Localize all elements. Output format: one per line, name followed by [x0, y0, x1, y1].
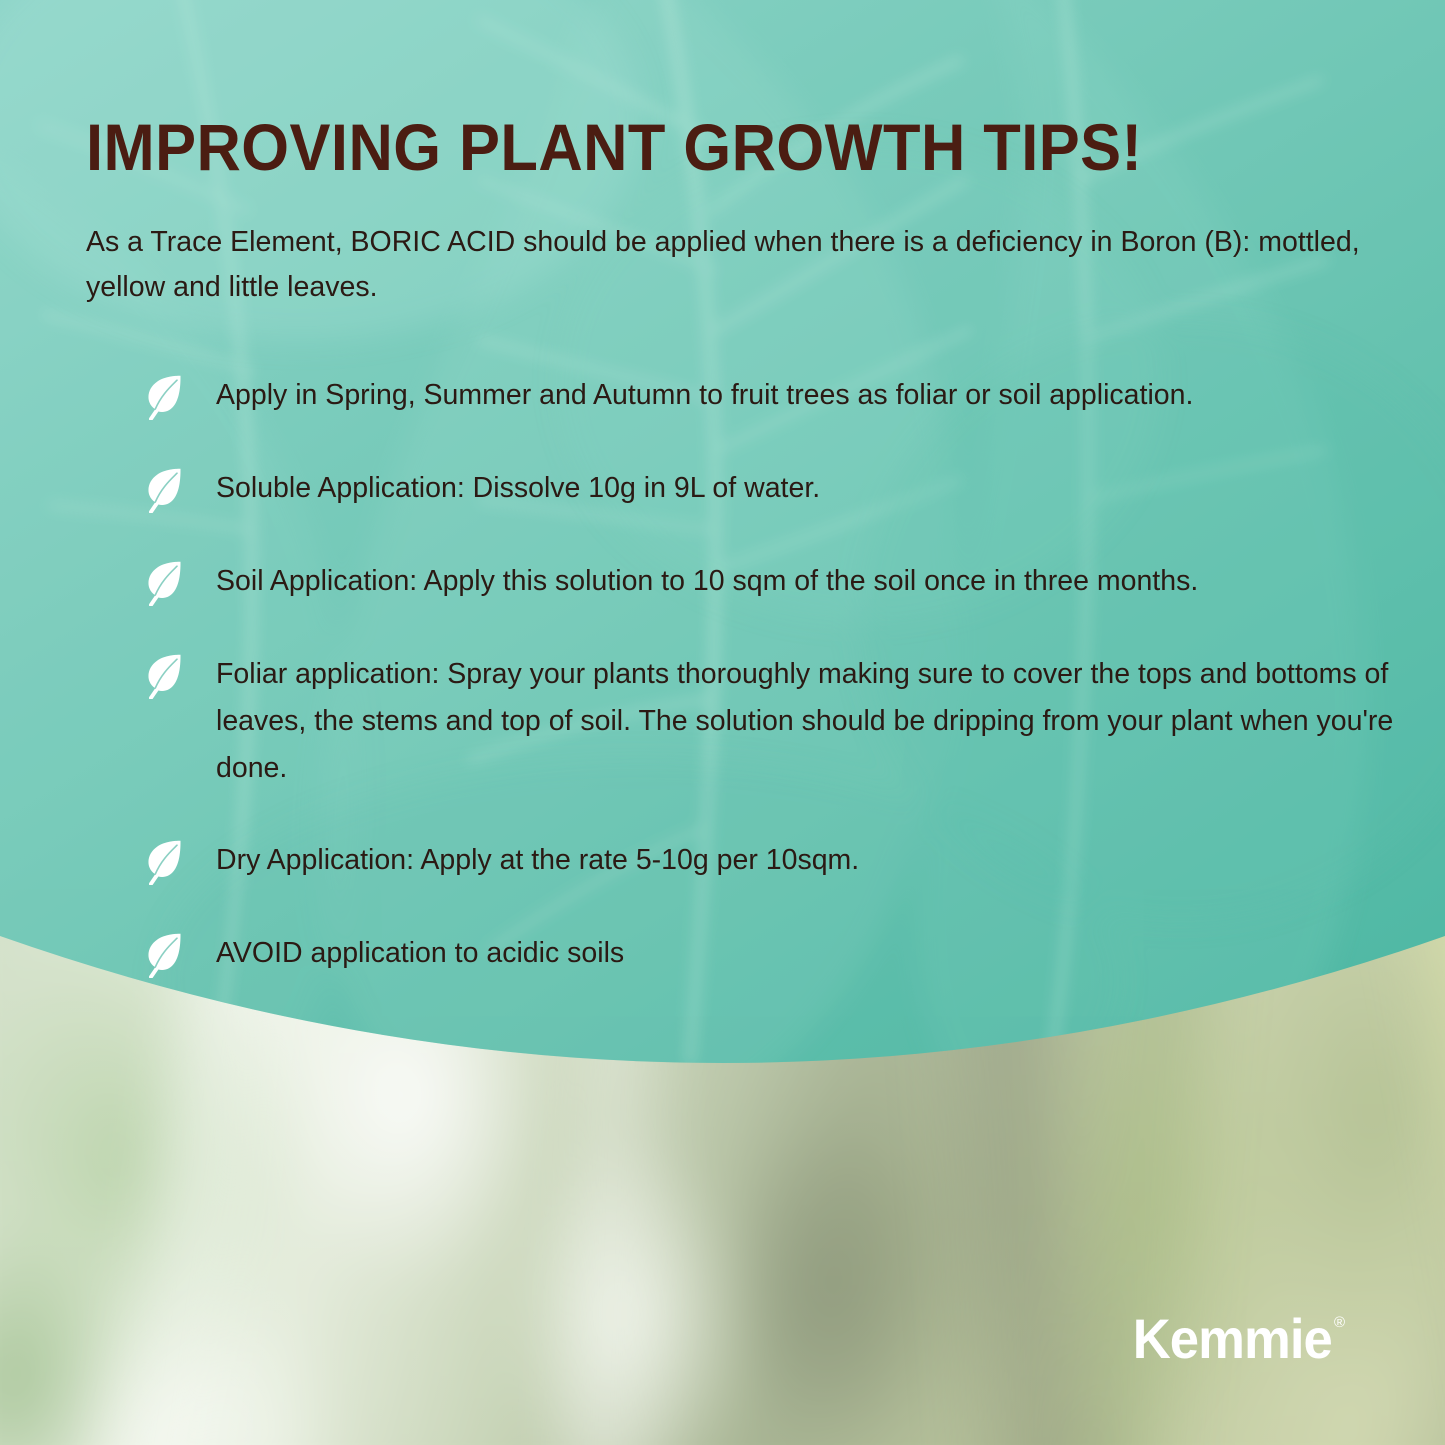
list-item-text: Foliar application: Spray your plants th…: [216, 651, 1401, 792]
leaf-icon: [146, 560, 182, 606]
leaf-icon: [146, 839, 182, 885]
list-item: Soil Application: Apply this solution to…: [146, 558, 1401, 606]
tips-list: Apply in Spring, Summer and Autumn to fr…: [146, 372, 1401, 978]
poster-content: IMPROVING PLANT GROWTH TIPS! As a Trace …: [0, 0, 1445, 1445]
list-item: Soluble Application: Dissolve 10g in 9L …: [146, 465, 1401, 513]
list-item: Dry Application: Apply at the rate 5-10g…: [146, 837, 1401, 885]
list-item-text: Soil Application: Apply this solution to…: [216, 558, 1401, 605]
leaf-icon: [146, 932, 182, 978]
brand-logo: Kemmie ®: [1120, 1311, 1345, 1367]
list-item-text: Dry Application: Apply at the rate 5-10g…: [216, 837, 1401, 884]
brand-name: Kemmie: [1133, 1311, 1332, 1367]
list-item: Apply in Spring, Summer and Autumn to fr…: [146, 372, 1401, 420]
poster-canvas: IMPROVING PLANT GROWTH TIPS! As a Trace …: [0, 0, 1445, 1445]
list-item: AVOID application to acidic soils: [146, 930, 1401, 978]
leaf-icon: [146, 374, 182, 420]
list-item-text: Apply in Spring, Summer and Autumn to fr…: [216, 372, 1401, 419]
list-item-text: AVOID application to acidic soils: [216, 930, 1401, 977]
subtitle-paragraph: As a Trace Element, BORIC ACID should be…: [86, 220, 1376, 310]
list-item-text: Soluble Application: Dissolve 10g in 9L …: [216, 465, 1401, 512]
registered-trademark-icon: ®: [1334, 1315, 1345, 1330]
leaf-icon: [146, 467, 182, 513]
page-title: IMPROVING PLANT GROWTH TIPS!: [86, 114, 1142, 180]
list-item: Foliar application: Spray your plants th…: [146, 651, 1401, 792]
leaf-icon: [146, 653, 182, 699]
